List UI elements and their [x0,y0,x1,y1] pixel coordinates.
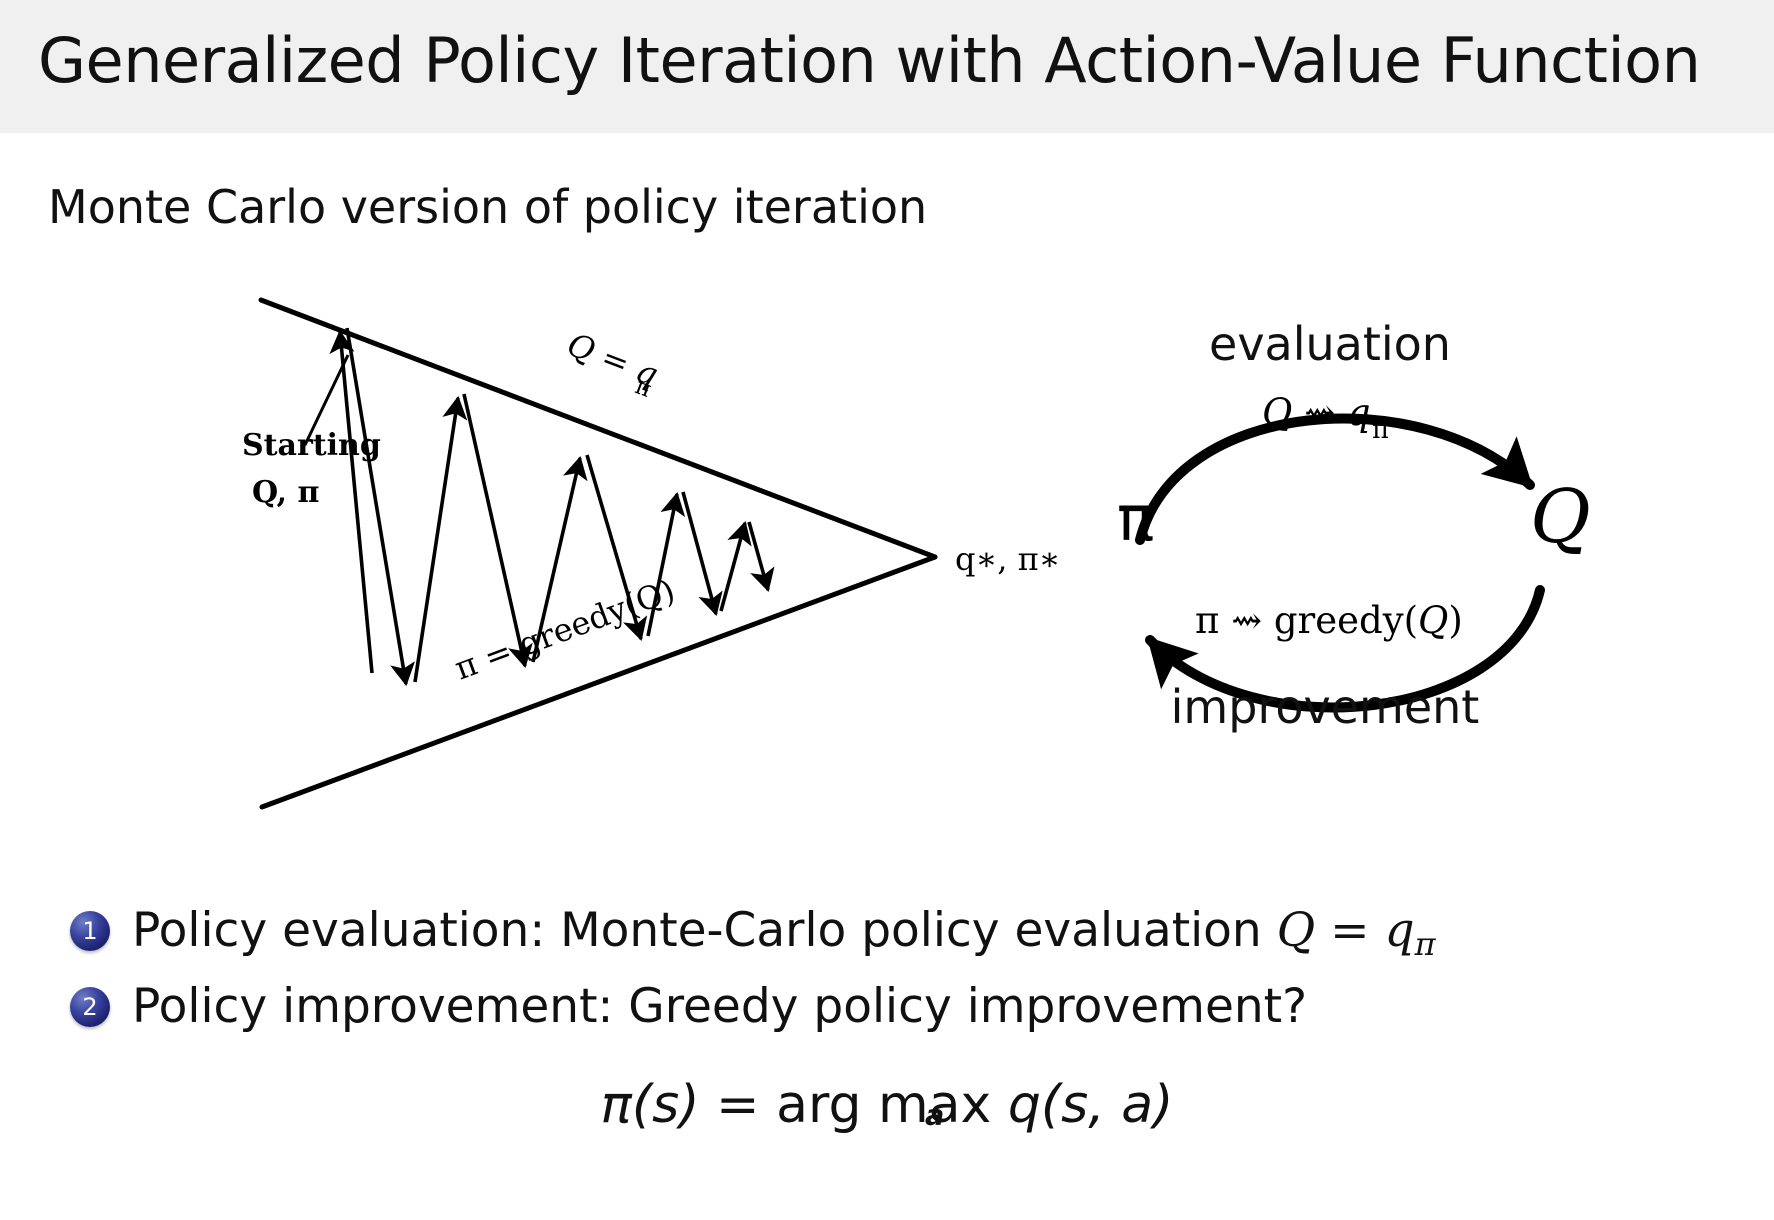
wedge-top-label-group: Q = q π [559,325,664,403]
cycle-evaluation-label: evaluation [1209,317,1451,371]
bullet-text-2: Policy improvement: Greedy policy improv… [132,976,1307,1038]
policy-equation: π(s) = arg maxa q(s, a) [0,1075,1774,1135]
diagrams-svg: Starting Q, π Q = q π π = greedy(Q) q∗, … [0,250,1774,820]
list-item[interactable]: 1 Policy evaluation: Monte-Carlo policy … [70,900,1710,962]
figures-container: Starting Q, π Q = q π π = greedy(Q) q∗, … [0,250,1774,820]
equation-max-subscript: a [878,1098,991,1132]
cycle-improvement-label: improvement [1171,680,1480,734]
wedge-bottom-label-group: π = greedy(Q) [450,571,680,687]
bullet-number-badge-1: 1 [70,911,110,951]
cycle-diagram: evaluation improvement Q ⇝ q π π ⇝ greed… [1117,317,1591,734]
wedge-diagram: Starting Q, π Q = q π π = greedy(Q) q∗, … [242,300,1060,807]
wedge-bottom-label: π = greedy(Q) [450,571,680,687]
bullet-text-1: Policy evaluation: Monte-Carlo policy ev… [132,900,1436,975]
page-title: Generalized Policy Iteration with Action… [38,24,1700,97]
wedge-starting-label-line1: Starting [242,428,381,463]
bullet-text-2-prose: Policy improvement: Greedy policy improv… [132,979,1307,1034]
cycle-upper-arc-label-sub: π [1372,415,1389,445]
cycle-node-Q: Q [1530,474,1591,560]
equation-rhs: q(s, a) [991,1075,1173,1135]
list-item[interactable]: 2 Policy improvement: Greedy policy impr… [70,976,1710,1038]
wedge-apex-label: q∗, π∗ [955,540,1060,578]
bullet-text-1-math: Q = q [1277,903,1415,958]
equation-argmax-stack: maxa [878,1075,991,1135]
bullet-number-badge-2: 2 [70,987,110,1027]
slide-subtitle: Monte Carlo version of policy iteration [48,180,927,234]
cycle-upper-arc [1140,418,1530,540]
slide-root: Generalized Policy Iteration with Action… [0,0,1774,1220]
equation-lhs: π(s) = [601,1075,777,1135]
cycle-node-pi: π [1117,482,1154,555]
bullet-text-1-prose: Policy evaluation: Monte-Carlo policy ev… [132,903,1277,958]
equation-arg: arg [776,1075,878,1135]
cycle-upper-arc-label: Q ⇝ q [1262,391,1371,434]
cycle-upper-arc-label-group: Q ⇝ q π [1262,391,1389,445]
cycle-lower-arc-label: π ⇝ greedy(Q) [1195,599,1463,642]
numbered-bullet-list: 1 Policy evaluation: Monte-Carlo policy … [70,900,1710,1052]
wedge-starting-label-line2: Q, π [252,475,320,510]
bullet-text-1-math-sub: π [1415,925,1436,963]
